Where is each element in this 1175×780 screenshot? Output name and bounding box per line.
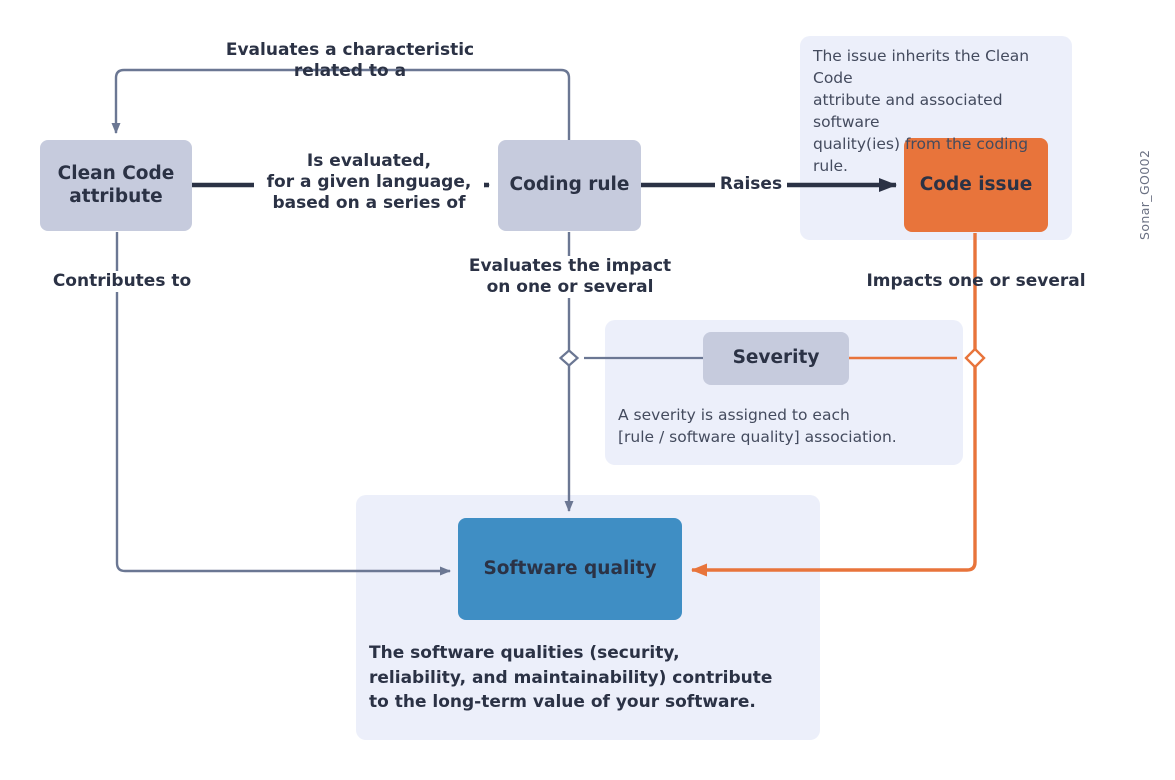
watermark-label: Sonar_GO002	[1137, 150, 1152, 240]
edge-label-is-evaluated: Is evaluated, for a given language, base…	[254, 151, 484, 214]
node-clean-code-attribute[interactable]: Clean Code attribute	[40, 140, 192, 231]
edge-label-evaluates-characteristic: Evaluates a characteristic related to a	[205, 40, 495, 82]
edge-label-raises: Raises	[715, 174, 787, 195]
diagram-canvas: Clean Code attribute Coding rule Code is…	[0, 0, 1175, 780]
edge-label-impacts-one-or-several: Impacts one or several	[866, 271, 1086, 292]
aggregation-diamond-issue-icon	[966, 349, 984, 367]
node-software-quality[interactable]: Software quality	[458, 518, 682, 620]
node-coding-rule[interactable]: Coding rule	[498, 140, 641, 231]
note-software-quality: The software qualities (security, reliab…	[369, 641, 814, 715]
aggregation-diamond-rule-icon	[561, 351, 578, 366]
node-severity[interactable]: Severity	[703, 332, 849, 385]
note-severity: A severity is assigned to each [rule / s…	[618, 404, 958, 448]
note-code-issue: The issue inherits the Clean Code attrib…	[813, 45, 1063, 177]
edge-label-evaluates-impact: Evaluates the impact on one or several	[440, 256, 700, 298]
edge-label-contributes-to: Contributes to	[47, 271, 197, 292]
